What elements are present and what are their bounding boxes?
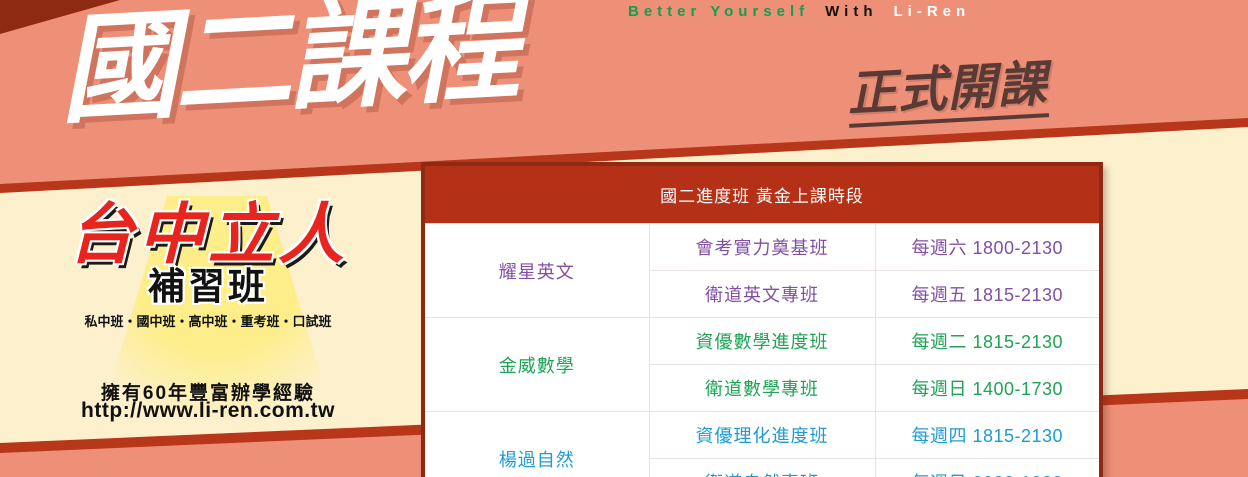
school-logo: 台中立人 補習班 私中班・國中班・高中班・重考班・口試班 (28, 198, 388, 330)
time-cell: 每週五 1815-2130 (875, 271, 1101, 318)
course-cell: 會考實力奠基班 (649, 224, 875, 271)
headline-title: 國二課程 (56, 0, 518, 130)
teacher-cell-science: 楊過自然 (423, 412, 649, 477)
table-row: 耀星英文 會考實力奠基班 每週六 1800-2130 (423, 224, 1101, 271)
schedule-table-body: 國二進度班 黃金上課時段 耀星英文 會考實力奠基班 每週六 1800-2130 … (423, 164, 1101, 477)
course-cell: 資優數學進度班 (649, 318, 875, 365)
table-row: 金威數學 資優數學進度班 每週二 1815-2130 (423, 318, 1101, 365)
time-cell: 每週六 1800-2130 (875, 224, 1101, 271)
schedule-table: 國二進度班 黃金上課時段 耀星英文 會考實力奠基班 每週六 1800-2130 … (421, 162, 1103, 477)
promo-banner: Better YourselfWithLi-Ren 國二課程 正式開課 台中立人… (0, 0, 1248, 477)
tagline-part-1: Better Yourself (628, 3, 809, 20)
logo-school-name: 台中立人 (28, 198, 388, 270)
time-cell: 每週日 0900-1230 (875, 459, 1101, 477)
time-cell: 每週四 1815-2130 (875, 412, 1101, 459)
time-cell: 每週二 1815-2130 (875, 318, 1101, 365)
headline-subtitle: 正式開課 (846, 55, 1049, 128)
course-cell: 衛道數學專班 (649, 365, 875, 412)
tagline-part-2: With (825, 3, 877, 20)
tagline: Better YourselfWithLi-Ren (628, 0, 986, 24)
teacher-cell-math: 金威數學 (423, 318, 649, 412)
schedule-header-row: 國二進度班 黃金上課時段 (423, 164, 1101, 224)
table-row: 楊過自然 資優理化進度班 每週四 1815-2130 (423, 412, 1101, 459)
course-cell: 資優理化進度班 (649, 412, 875, 459)
teacher-cell-english: 耀星英文 (423, 224, 649, 318)
course-cell: 衛道英文專班 (649, 271, 875, 318)
schedule-header-cell: 國二進度班 黃金上課時段 (423, 164, 1101, 224)
tagline-part-3: Li-Ren (894, 3, 971, 20)
time-cell: 每週日 1400-1730 (875, 365, 1101, 412)
website-url[interactable]: http://www.li-ren.com.tw (58, 399, 358, 423)
logo-class-list: 私中班・國中班・高中班・重考班・口試班 (28, 311, 388, 330)
course-cell: 衛道自然專班 (649, 459, 875, 477)
